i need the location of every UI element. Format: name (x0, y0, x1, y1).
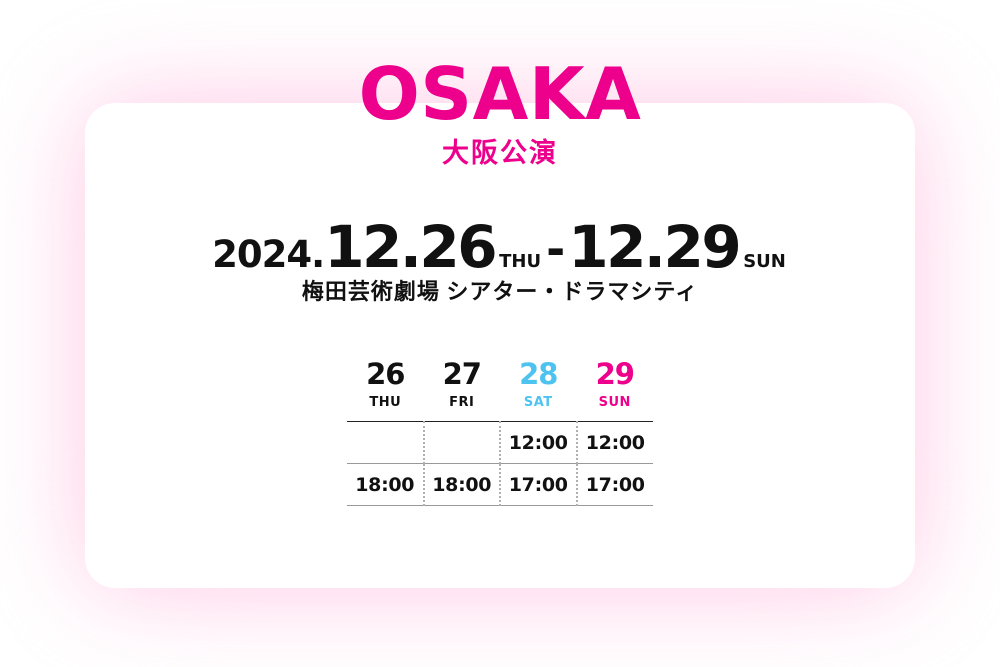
schedule-day-column-thu: 26THU (347, 360, 424, 409)
schedule-day-weekday: THU (347, 396, 424, 409)
performance-schedule: 26THU27FRI28SAT29SUN 12:0012:0018:0018:0… (347, 360, 653, 506)
schedule-table: 12:0012:0018:0018:0017:0017:00 (347, 421, 653, 506)
poster-content: OSAKA 大阪公演 2024.12.26THU-12.29SUN 梅田芸術劇場… (0, 0, 1000, 667)
schedule-day-weekday: SUN (577, 396, 654, 409)
schedule-header-row: 26THU27FRI28SAT29SUN (347, 360, 653, 409)
schedule-row-evening: 18:0018:0017:0017:00 (347, 464, 653, 506)
date-separator: - (543, 226, 568, 272)
date-end: 12.29 (568, 218, 739, 276)
schedule-row-matinee: 12:0012:00 (347, 422, 653, 464)
schedule-time-cell[interactable]: 18:00 (347, 464, 424, 506)
poster-stage: OSAKA 大阪公演 2024.12.26THU-12.29SUN 梅田芸術劇場… (0, 0, 1000, 667)
page-subtitle: 大阪公演 (0, 140, 1000, 167)
schedule-time-cell[interactable]: 17:00 (500, 464, 577, 506)
schedule-time-cell[interactable]: 12:00 (500, 422, 577, 464)
date-year: 2024. (212, 236, 324, 273)
schedule-day-number: 26 (347, 360, 424, 389)
schedule-day-number: 27 (424, 360, 501, 389)
date-end-dow: SUN (739, 253, 788, 271)
schedule-time-cell[interactable]: 12:00 (577, 422, 654, 464)
schedule-day-weekday: FRI (424, 396, 501, 409)
schedule-day-column-fri: 27FRI (424, 360, 501, 409)
venue-name: 梅田芸術劇場 シアター・ドラマシティ (0, 281, 1000, 303)
schedule-time-cell[interactable]: 18:00 (424, 464, 501, 506)
schedule-day-weekday: SAT (500, 396, 577, 409)
schedule-time-cell[interactable]: 17:00 (577, 464, 654, 506)
date-range: 2024.12.26THU-12.29SUN (0, 218, 1000, 276)
date-start-dow: THU (495, 253, 543, 271)
schedule-empty-cell (347, 422, 424, 464)
schedule-day-column-sat: 28SAT (500, 360, 577, 409)
date-start: 12.26 (324, 218, 495, 276)
page-title: OSAKA (0, 58, 1000, 130)
schedule-day-number: 29 (577, 360, 654, 389)
schedule-day-number: 28 (500, 360, 577, 389)
schedule-day-column-sun: 29SUN (577, 360, 654, 409)
schedule-empty-cell (424, 422, 501, 464)
